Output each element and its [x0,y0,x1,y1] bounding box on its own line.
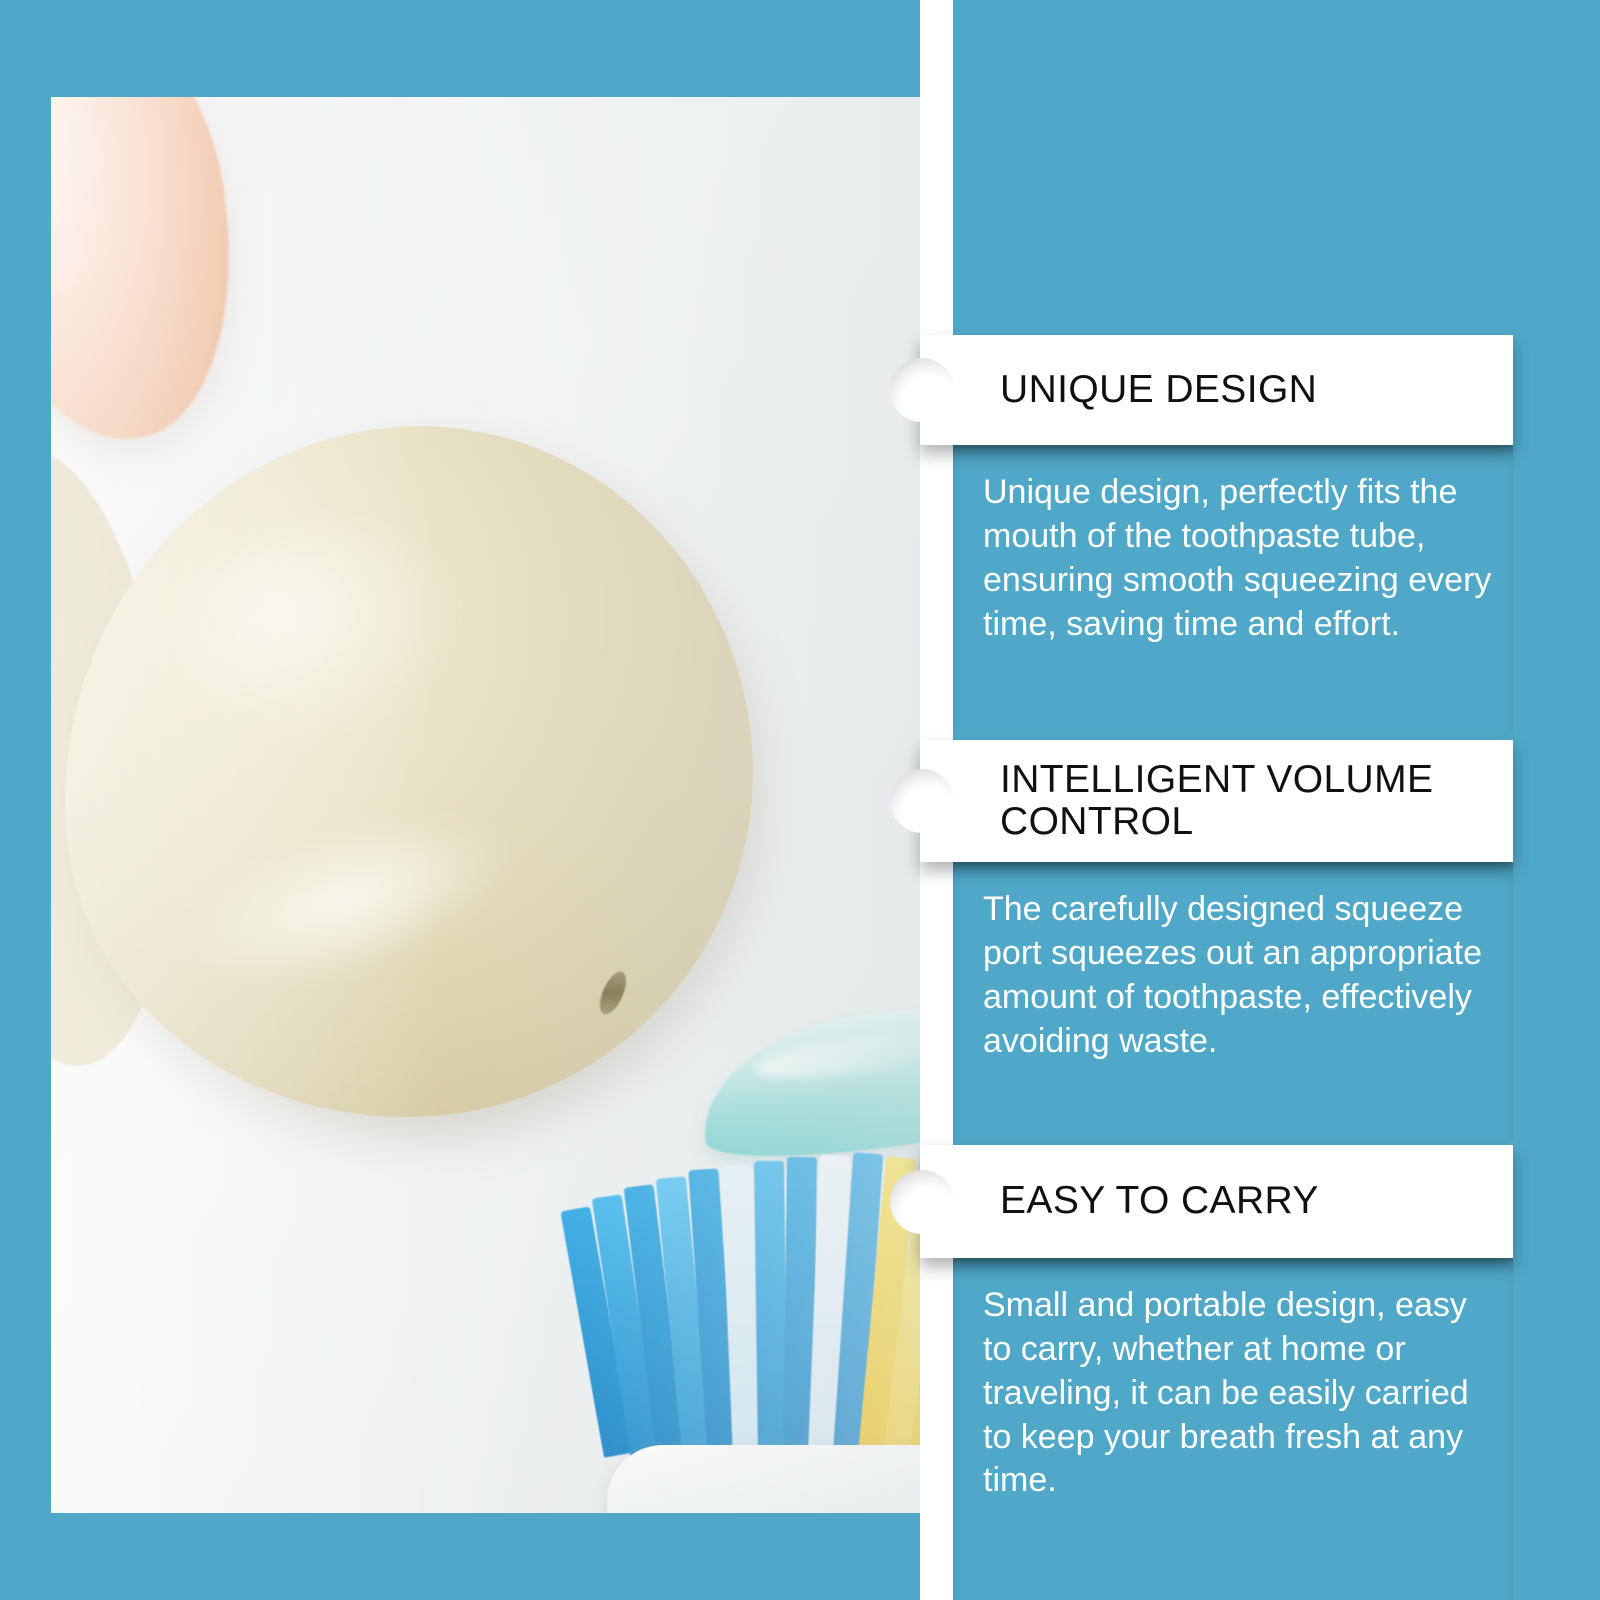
feature-title: EASY TO CARRY [1000,1180,1319,1222]
infographic-canvas: UNIQUE DESIGN Unique design, perfectly f… [0,0,1600,1600]
feature-description: The carefully designed squeeze port sque… [953,862,1513,1140]
product-photo-panel [51,97,920,1513]
feature-card-intelligent-volume-control: INTELLIGENT VOLUME CONTROL The carefully… [920,740,1600,1140]
feature-header[interactable]: INTELLIGENT VOLUME CONTROL [920,740,1513,862]
feature-title: UNIQUE DESIGN [1000,369,1317,411]
circle-notch-icon [890,769,954,833]
feature-header[interactable]: UNIQUE DESIGN [920,335,1513,445]
feature-card-unique-design: UNIQUE DESIGN Unique design, perfectly f… [920,335,1600,733]
circle-notch-icon [890,1170,954,1234]
feature-title: INTELLIGENT VOLUME CONTROL [1000,759,1497,843]
feature-description: Unique design, perfectly fits the mouth … [953,445,1513,733]
circle-notch-icon [890,358,954,422]
feature-card-easy-to-carry: EASY TO CARRY Small and portable design,… [920,1145,1600,1600]
feature-description: Small and portable design, easy to carry… [953,1258,1513,1600]
feature-list: UNIQUE DESIGN Unique design, perfectly f… [920,0,1600,1600]
photo-vignette [51,97,920,1513]
feature-header[interactable]: EASY TO CARRY [920,1145,1513,1258]
